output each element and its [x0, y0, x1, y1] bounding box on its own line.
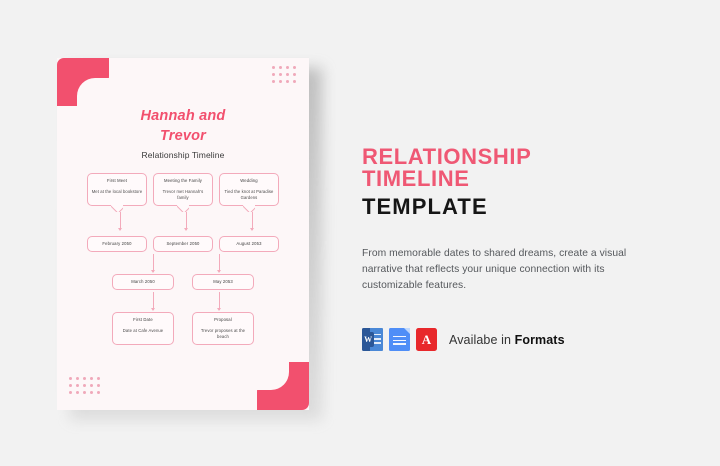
document-card[interactable]: Hannah and Trevor Relationship Timeline … — [57, 58, 309, 410]
node-date-label: September 2050 — [166, 241, 199, 247]
panel-headline: RELATIONSHIP TIMELINE TEMPLATE — [362, 146, 652, 218]
connector-arrow-icon — [153, 292, 154, 310]
dot-grid-bottom-left — [69, 377, 100, 394]
title-line-1: Hannah and — [57, 106, 309, 126]
timeline-node-event[interactable]: Meeting the Family Trevor met Hannah's f… — [153, 173, 213, 206]
node-body: Trevor proposes at the beach — [196, 328, 250, 340]
title-line-2: Trevor — [57, 126, 309, 146]
timeline-node-event[interactable]: First Meet Met at the local bookstore — [87, 173, 147, 206]
node-date-label: May 2053 — [213, 279, 233, 285]
timeline-row-dates: February 2050 September 2050 August 2053 — [57, 236, 309, 252]
document-subtitle: Relationship Timeline — [57, 150, 309, 160]
connector-arrow-icon — [219, 254, 220, 272]
formats-bold: Formats — [515, 333, 565, 347]
node-date-label: August 2053 — [236, 241, 261, 247]
bubble-tail-icon — [243, 204, 255, 212]
node-heading: Meeting the Family — [157, 178, 209, 184]
timeline-node-date[interactable]: May 2053 — [192, 274, 254, 290]
timeline-node-event[interactable]: Proposal Trevor proposes at the beach — [192, 312, 254, 345]
pdf-letter: A — [422, 332, 431, 348]
connector-arrow-icon — [120, 212, 121, 230]
timeline-row-events-top: First Meet Met at the local bookstore Me… — [57, 173, 309, 206]
node-heading: Proposal — [196, 317, 250, 323]
timeline-flowchart: First Meet Met at the local bookstore Me… — [57, 173, 309, 345]
document-title: Hannah and Trevor — [57, 106, 309, 146]
panel-description: From memorable dates to shared dreams, c… — [362, 246, 652, 294]
connector-arrow-icon — [153, 254, 154, 272]
timeline-node-date[interactable]: March 2050 — [112, 274, 174, 290]
timeline-row-events-bottom: First Date Date at Cafe Avenue Proposal … — [57, 312, 309, 345]
node-body: Trevor met Hannah's family — [157, 189, 209, 201]
node-body: Date at Cafe Avenue — [116, 328, 170, 334]
timeline-node-date[interactable]: August 2053 — [219, 236, 279, 252]
connector-arrow-icon — [186, 212, 187, 230]
timeline-node-date[interactable]: February 2050 — [87, 236, 147, 252]
pdf-icon[interactable]: A — [416, 328, 437, 351]
timeline-row-mid-dates: March 2050 May 2053 — [57, 274, 309, 290]
node-heading: First Meet — [91, 178, 143, 184]
node-body: Tied the knot at Paradise Gardens — [223, 189, 275, 201]
dot-grid-top-right — [272, 66, 296, 83]
formats-prefix: Availabe in — [449, 333, 515, 347]
node-heading: Wedding — [223, 178, 275, 184]
headline-line-3: TEMPLATE — [362, 196, 652, 218]
bubble-tail-icon — [177, 204, 189, 212]
node-date-label: March 2050 — [131, 279, 155, 285]
available-formats: W A Availabe in Formats — [362, 328, 652, 351]
google-docs-icon[interactable] — [389, 328, 410, 351]
formats-label: Availabe in Formats — [449, 333, 565, 347]
word-icon[interactable]: W — [362, 328, 383, 351]
connector-arrow-icon — [219, 292, 220, 310]
node-body: Met at the local bookstore — [91, 189, 143, 195]
corner-bracket-top-left-icon — [57, 58, 109, 106]
corner-bracket-bottom-right-icon — [257, 362, 309, 410]
timeline-node-event[interactable]: First Date Date at Cafe Avenue — [112, 312, 174, 345]
connector-arrow-icon — [252, 212, 253, 230]
bubble-tail-icon — [111, 204, 123, 212]
marketing-panel: RELATIONSHIP TIMELINE TEMPLATE From memo… — [362, 146, 652, 351]
timeline-node-date[interactable]: September 2050 — [153, 236, 213, 252]
headline-line-2: TIMELINE — [362, 166, 469, 191]
node-date-label: February 2050 — [102, 241, 131, 247]
timeline-node-event[interactable]: Wedding Tied the knot at Paradise Garden… — [219, 173, 279, 206]
word-letter: W — [362, 332, 374, 347]
node-heading: First Date — [116, 317, 170, 323]
